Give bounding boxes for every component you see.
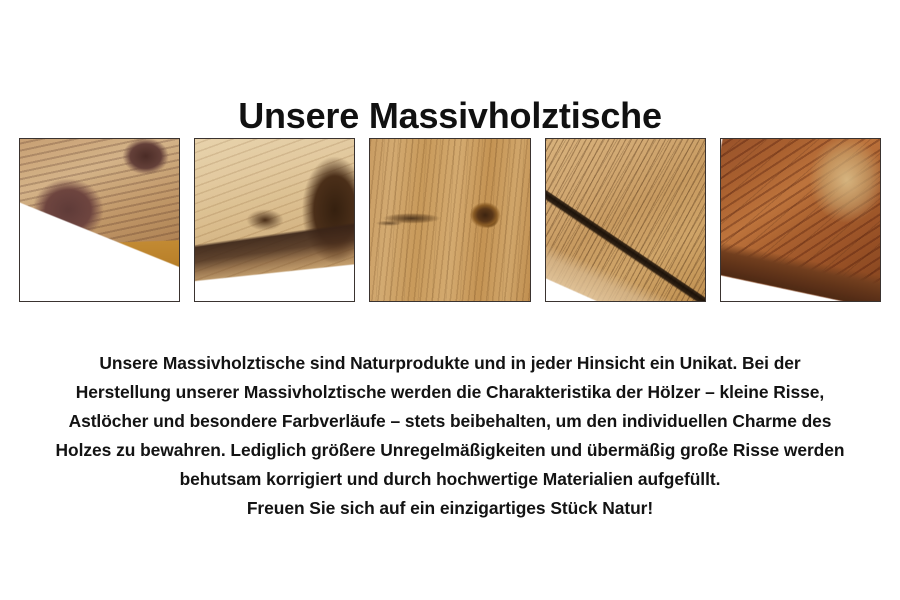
page-root: Unsere Massivholztische Unsere Massivhol… [0, 0, 900, 600]
wood-texture-sheesham-corner [720, 138, 881, 302]
image-gallery [19, 138, 881, 302]
gallery-image-1 [19, 138, 180, 302]
wood-texture-acacia-bark-edge [194, 138, 355, 302]
gallery-image-3 [369, 138, 530, 302]
page-title: Unsere Massivholztische [0, 92, 900, 140]
body-paragraph: Unsere Massivholztische sind Naturproduk… [50, 349, 850, 494]
wood-texture-rough-sawn-plank-crack [545, 138, 706, 302]
wood-texture-grain-knot-closeup [370, 139, 529, 301]
gallery-image-4 [545, 138, 706, 302]
body-closing-line: Freuen Sie sich auf ein einzigartiges St… [50, 494, 850, 523]
gallery-image-2 [194, 138, 355, 302]
body-copy: Unsere Massivholztische sind Naturproduk… [50, 349, 850, 523]
gallery-image-5 [720, 138, 881, 302]
wood-texture-rosewood-live-edge-corner [19, 138, 180, 302]
